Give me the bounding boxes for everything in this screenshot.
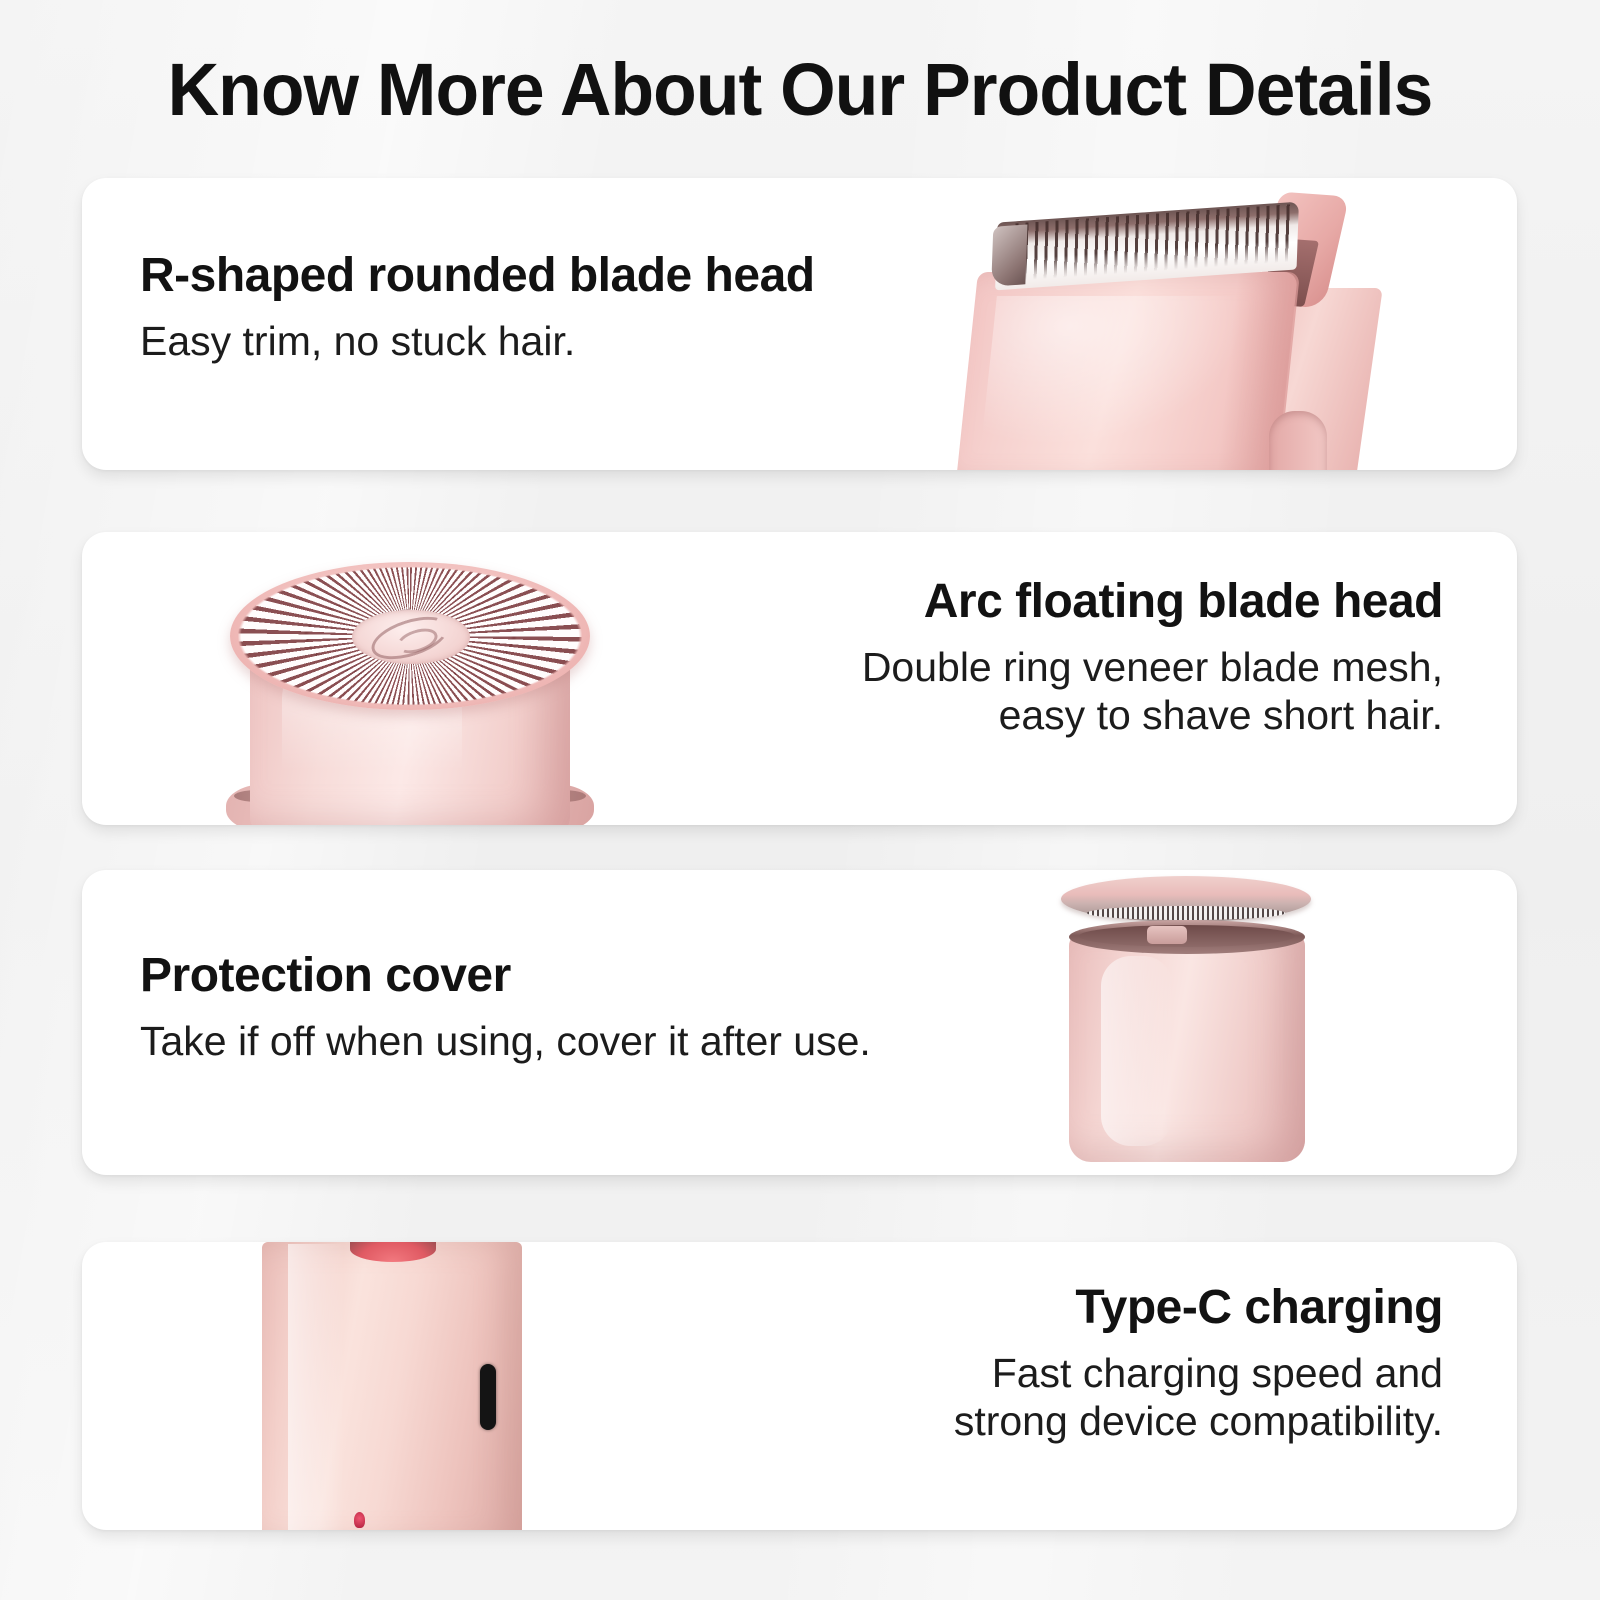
cover-inner-rim [1069,920,1305,954]
blade-tip [991,224,1027,286]
shaver-center-hub [352,610,470,664]
feature-title: Type-C charging [954,1280,1443,1335]
feature-card-protection-cover: Protection cover Take if off when using,… [82,870,1517,1175]
trimmer-highlight [981,296,1247,446]
feature-title: Protection cover [140,948,871,1003]
feature-title: R-shaped rounded blade head [140,248,815,303]
usb-c-port-icon [480,1364,496,1430]
shaver-foil-mesh [230,562,590,710]
card-text-block: Arc floating blade head Double ring vene… [862,574,1443,740]
trimmer-blade-head-photo [949,178,1399,470]
card-text-block: R-shaped rounded blade head Easy trim, n… [140,248,815,365]
detached-shaver-head [1061,876,1311,922]
feature-description: Take if off when using, cover it after u… [140,1017,871,1065]
handle-highlight [288,1244,344,1530]
feature-card-r-shaped-blade-head: R-shaped rounded blade head Easy trim, n… [82,178,1517,470]
feature-description: Easy trim, no stuck hair. [140,317,815,365]
device-handle-usb-c-photo [222,1242,562,1530]
feature-description: Fast charging speed and strong device co… [954,1349,1443,1446]
protection-cover-photo [1039,870,1339,1175]
trimmer-notch [1269,411,1327,470]
feature-card-type-c-charging: Type-C charging Fast charging speed and … [82,1242,1517,1530]
charging-led-indicator [354,1512,365,1528]
swirl-logo-icon [366,609,453,668]
page-title: Know More About Our Product Details [28,47,1572,132]
card-text-block: Type-C charging Fast charging speed and … [954,1280,1443,1446]
card-text-block: Protection cover Take if off when using,… [140,948,871,1065]
cover-alignment-tab [1147,926,1187,944]
cover-highlight [1101,956,1173,1146]
feature-card-arc-floating-blade-head: Arc floating blade head Double ring vene… [82,532,1517,825]
rotary-shaver-head-photo [202,548,642,825]
feature-description: Double ring veneer blade mesh, easy to s… [862,643,1443,740]
feature-title: Arc floating blade head [862,574,1443,629]
